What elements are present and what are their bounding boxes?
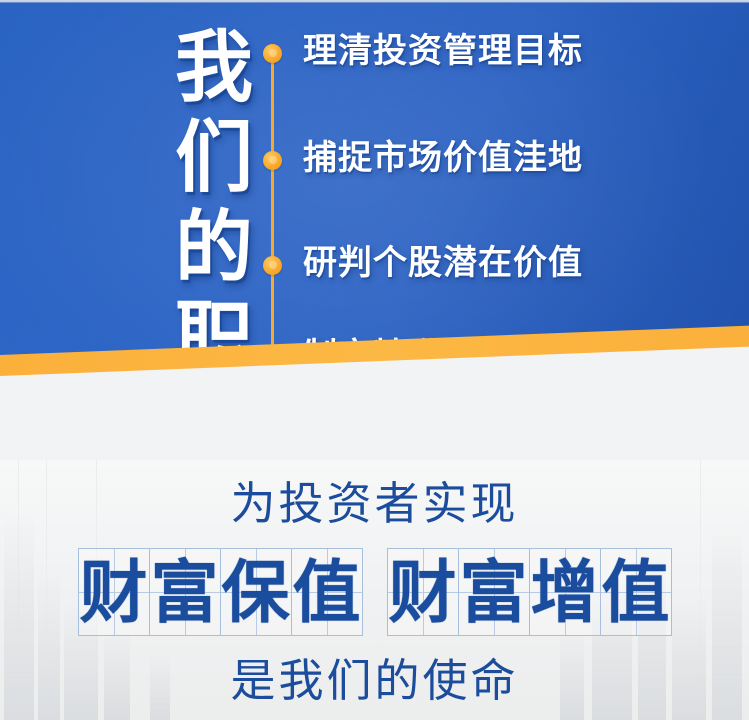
calligraphy-char: 财: [79, 557, 147, 629]
timeline-dot-icon: [263, 256, 282, 275]
calligraphy-cell: 富: [149, 548, 221, 636]
calligraphy-char: 财: [388, 557, 456, 629]
calligraphy-group-1: 财 富 保 值: [78, 548, 363, 636]
calligraphy-cell: 增: [529, 548, 601, 636]
list-item: 捕捉市场价值洼地: [303, 138, 583, 178]
timeline-dot-icon: [263, 44, 282, 63]
calligraphy-cell: 保: [220, 548, 292, 636]
calligraphy-char: 富: [150, 557, 218, 629]
calligraphy-cell: 财: [78, 548, 150, 636]
slogan-line-bottom: 是我们的使命: [0, 655, 749, 707]
headline-char: 我: [175, 22, 253, 112]
calligraphy-char: 值: [292, 557, 360, 629]
timeline-spine: [268, 44, 277, 359]
slogan-line-top: 为投资者实现: [0, 478, 749, 530]
list-item: 研判个股潜在价值: [303, 243, 583, 283]
timeline-dot-icon: [263, 151, 282, 170]
poster-root: 我 们 的 职 责 理清投资管理目标 捕捉市场价值洼地 研判个股潜在价值 制定精…: [0, 0, 749, 720]
list-item: 理清投资管理目标: [303, 31, 583, 71]
calligraphy-char: 富: [459, 557, 527, 629]
bottom-slogan-panel: 为投资者实现 财 富 保 值 财: [0, 460, 749, 720]
top-blue-panel: 我 们 的 职 责 理清投资管理目标 捕捉市场价值洼地 研判个股潜在价值 制定精…: [0, 0, 749, 460]
calligraphy-row: 财 富 保 值 财 富 增: [0, 548, 749, 636]
calligraphy-cell: 值: [600, 548, 672, 636]
calligraphy-char: 值: [601, 557, 669, 629]
calligraphy-cell: 富: [458, 548, 530, 636]
headline-char: 们: [175, 112, 253, 202]
calligraphy-cell: 财: [387, 548, 459, 636]
calligraphy-cell: 值: [291, 548, 363, 636]
timeline-connector-line: [271, 48, 274, 355]
calligraphy-char: 保: [221, 557, 289, 629]
top-edge-hairline: [0, 0, 749, 3]
calligraphy-group-2: 财 富 增 值: [387, 548, 672, 636]
calligraphy-char: 增: [530, 557, 598, 629]
headline-char: 的: [175, 202, 253, 292]
